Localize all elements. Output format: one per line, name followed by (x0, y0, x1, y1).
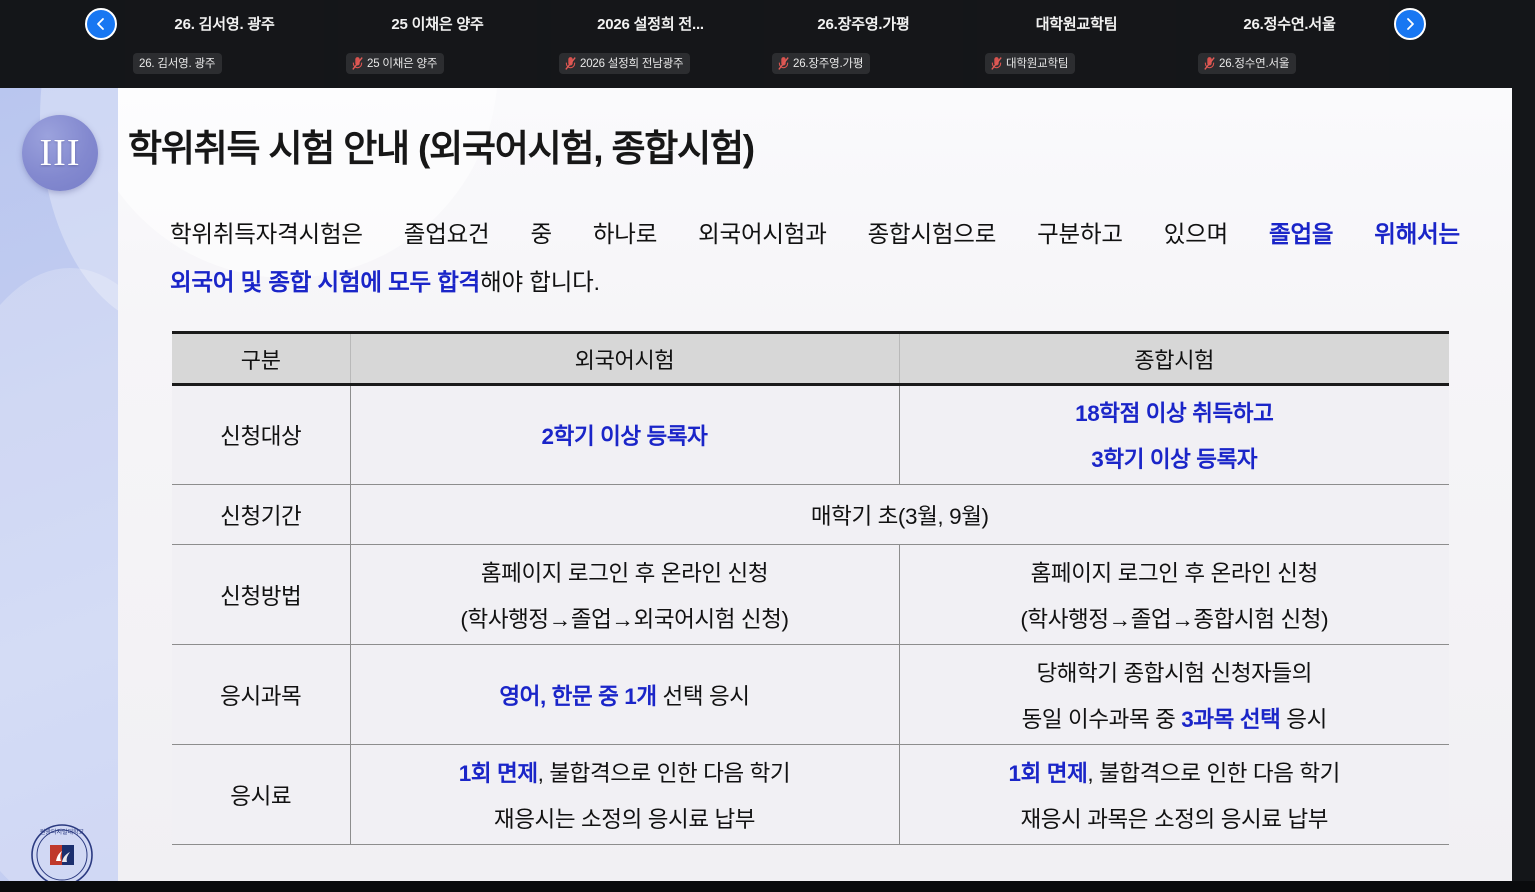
cell-comprehensive-subjects: 당해학기 종합시험 신청자들의 동일 이수과목 중 3과목 선택 응시 (899, 645, 1449, 745)
cell-text-tail: 응시 (1280, 707, 1326, 732)
microphone-muted-icon (778, 57, 789, 70)
cell-comprehensive-eligibility: 18학점 이상 취득하고 3학기 이상 등록자 (899, 385, 1449, 485)
participant-thumbnails: 26. 김서영. 광주 26. 김서영. 광주 25 이채은 양주 25 이채은… (125, 0, 1387, 88)
participant-name-badge: 대학원교학팀 (985, 53, 1075, 74)
cell-highlight: 1회 면제 (1009, 761, 1088, 786)
table-row: 응시과목 영어, 한문 중 1개 선택 응시 당해학기 종합시험 신청자들의 동… (172, 645, 1449, 745)
participant-display-title: 26. 김서영. 광주 (125, 13, 324, 34)
microphone-muted-icon (1204, 57, 1215, 70)
microphone-muted-icon (565, 57, 576, 70)
cell-line: 영어, 한문 중 1개 선택 응시 (361, 679, 889, 711)
shared-slide: III 학위취득 시험 안내 (외국어시험, 종합시험) 학위취득자격시험은 졸… (0, 88, 1512, 881)
participant-tile[interactable]: 2026 설정희 전... 2026 설정희 전남광주 (551, 0, 750, 88)
row-label: 신청대상 (172, 385, 350, 485)
column-header-category: 구분 (172, 333, 350, 385)
cell-text: 동일 이수과목 중 (1022, 707, 1182, 732)
cell-line: 동일 이수과목 중 3과목 선택 응시 (910, 702, 1440, 734)
intro-line-2: 외국어 및 종합 시험에 모두 합격해야 합니다. (170, 258, 1460, 306)
window-bottom-margin (0, 881, 1535, 892)
intro-text-plain: 학위취득자격시험은 졸업요건 중 하나로 외국어시험과 종합시험으로 구분하고 … (170, 221, 1269, 247)
cell-line: 홈페이지 로그인 후 온라인 신청 (910, 556, 1440, 588)
participant-name-badge: 26. 김서영. 광주 (133, 53, 222, 74)
cell-line: 재응시 과목은 소정의 응시료 납부 (910, 802, 1440, 834)
participant-tile[interactable]: 26. 김서영. 광주 26. 김서영. 광주 (125, 0, 324, 88)
participant-name: 26. 김서영. 광주 (139, 55, 215, 71)
table-row: 신청방법 홈페이지 로그인 후 온라인 신청 (학사행정→졸업→외국어시험 신청… (172, 545, 1449, 645)
cell-foreign-method: 홈페이지 로그인 후 온라인 신청 (학사행정→졸업→외국어시험 신청) (350, 545, 899, 645)
university-logo: 원광디지털대학교 (26, 819, 98, 881)
table-header-row: 구분 외국어시험 종합시험 (172, 333, 1449, 385)
column-header-foreign-exam: 외국어시험 (350, 333, 899, 385)
exam-info-table: 구분 외국어시험 종합시험 신청대상 2학기 이상 등록자 (172, 331, 1449, 845)
window-right-margin (1512, 88, 1535, 892)
microphone-muted-icon (991, 57, 1002, 70)
cell-line: (학사행정→졸업→외국어시험 신청) (361, 602, 889, 634)
previous-participants-button[interactable] (85, 8, 117, 40)
participant-display-title: 대학원교학팀 (977, 13, 1176, 34)
participant-name: 25 이채은 양주 (367, 55, 437, 71)
participant-name-badge: 25 이채은 양주 (346, 53, 444, 74)
cell-highlight: 3과목 선택 (1181, 707, 1280, 732)
intro-text-plain-2: 해야 합니다. (480, 269, 600, 295)
participant-display-title: 25 이채은 양주 (338, 13, 537, 34)
exam-info-table-wrapper: 구분 외국어시험 종합시험 신청대상 2학기 이상 등록자 (172, 331, 1449, 845)
column-header-comprehensive-exam: 종합시험 (899, 333, 1449, 385)
participant-name-badge: 26.정수연.서울 (1198, 53, 1296, 74)
cell-text: , 불합격으로 인한 다음 학기 (1087, 761, 1340, 786)
row-label: 신청방법 (172, 545, 350, 645)
participant-name-badge: 2026 설정희 전남광주 (559, 53, 690, 74)
row-label: 신청기간 (172, 485, 350, 545)
participant-tile[interactable]: 26.정수연.서울 26.정수연.서울 (1190, 0, 1389, 88)
section-number: III (40, 134, 81, 172)
cell-comprehensive-fee: 1회 면제, 불합격으로 인한 다음 학기 재응시 과목은 소정의 응시료 납부 (899, 745, 1449, 845)
cell-line: 당해학기 종합시험 신청자들의 (910, 656, 1440, 688)
intro-line-1: 학위취득자격시험은 졸업요건 중 하나로 외국어시험과 종합시험으로 구분하고 … (170, 210, 1460, 258)
cell-foreign-fee: 1회 면제, 불합격으로 인한 다음 학기 재응시는 소정의 응시료 납부 (350, 745, 899, 845)
cell-line: 2학기 이상 등록자 (361, 419, 889, 451)
chevron-right-icon (1403, 17, 1417, 31)
cell-line: 18학점 이상 취득하고 (910, 396, 1440, 428)
cell-highlight: 1회 면제 (459, 761, 538, 786)
cell-line: 홈페이지 로그인 후 온라인 신청 (361, 556, 889, 588)
table-row: 응시료 1회 면제, 불합격으로 인한 다음 학기 재응시는 소정의 응시료 납… (172, 745, 1449, 845)
intro-text-highlight-2: 외국어 및 종합 시험에 모두 합격 (170, 269, 480, 295)
row-label: 응시과목 (172, 645, 350, 745)
cell-foreign-subjects: 영어, 한문 중 1개 선택 응시 (350, 645, 899, 745)
participant-name: 대학원교학팀 (1006, 55, 1068, 71)
next-participants-button[interactable] (1394, 8, 1426, 40)
cell-line: 1회 면제, 불합격으로 인한 다음 학기 (910, 756, 1440, 788)
participant-filmstrip: 26. 김서영. 광주 26. 김서영. 광주 25 이채은 양주 25 이채은… (0, 0, 1535, 88)
participant-display-title: 26.정수연.서울 (1190, 13, 1389, 34)
microphone-muted-icon (352, 57, 363, 70)
cell-line: 1회 면제, 불합격으로 인한 다음 학기 (361, 756, 889, 788)
participant-name: 2026 설정희 전남광주 (580, 55, 683, 71)
zoom-screenshare-window: 26. 김서영. 광주 26. 김서영. 광주 25 이채은 양주 25 이채은… (0, 0, 1535, 892)
cell-foreign-eligibility: 2학기 이상 등록자 (350, 385, 899, 485)
intro-paragraph: 학위취득자격시험은 졸업요건 중 하나로 외국어시험과 종합시험으로 구분하고 … (170, 210, 1460, 306)
row-label: 응시료 (172, 745, 350, 845)
participant-tile[interactable]: 26.장주영.가평 26.장주영.가평 (764, 0, 963, 88)
cell-text: 선택 응시 (657, 684, 750, 709)
section-number-badge: III (22, 115, 98, 191)
slide-left-decoration (0, 88, 118, 881)
cell-comprehensive-method: 홈페이지 로그인 후 온라인 신청 (학사행정→졸업→종합시험 신청) (899, 545, 1449, 645)
chevron-left-icon (94, 17, 108, 31)
participant-name: 26.정수연.서울 (1219, 55, 1289, 71)
svg-text:원광디지털대학교: 원광디지털대학교 (40, 828, 85, 836)
cell-application-period: 매학기 초(3월, 9월) (350, 485, 1449, 545)
cell-line: (학사행정→졸업→종합시험 신청) (910, 602, 1440, 634)
intro-text-highlight: 졸업을 위해서는 (1269, 221, 1460, 247)
cell-line: 3학기 이상 등록자 (910, 442, 1440, 474)
table-row: 신청기간 매학기 초(3월, 9월) (172, 485, 1449, 545)
participant-name: 26.장주영.가평 (793, 55, 863, 71)
participant-tile[interactable]: 25 이채은 양주 25 이채은 양주 (338, 0, 537, 88)
cell-highlight: 영어, 한문 중 1개 (499, 684, 656, 709)
page-title: 학위취득 시험 안내 (외국어시험, 종합시험) (128, 118, 754, 172)
participant-name-badge: 26.장주영.가평 (772, 53, 870, 74)
participant-display-title: 2026 설정희 전... (551, 13, 750, 34)
cell-line: 재응시는 소정의 응시료 납부 (361, 802, 889, 834)
cell-text: , 불합격으로 인한 다음 학기 (538, 761, 791, 786)
table-row: 신청대상 2학기 이상 등록자 18학점 이상 취득하고 3학기 이상 등록자 (172, 385, 1449, 485)
participant-tile[interactable]: 대학원교학팀 대학원교학팀 (977, 0, 1176, 88)
participant-display-title: 26.장주영.가평 (764, 13, 963, 34)
